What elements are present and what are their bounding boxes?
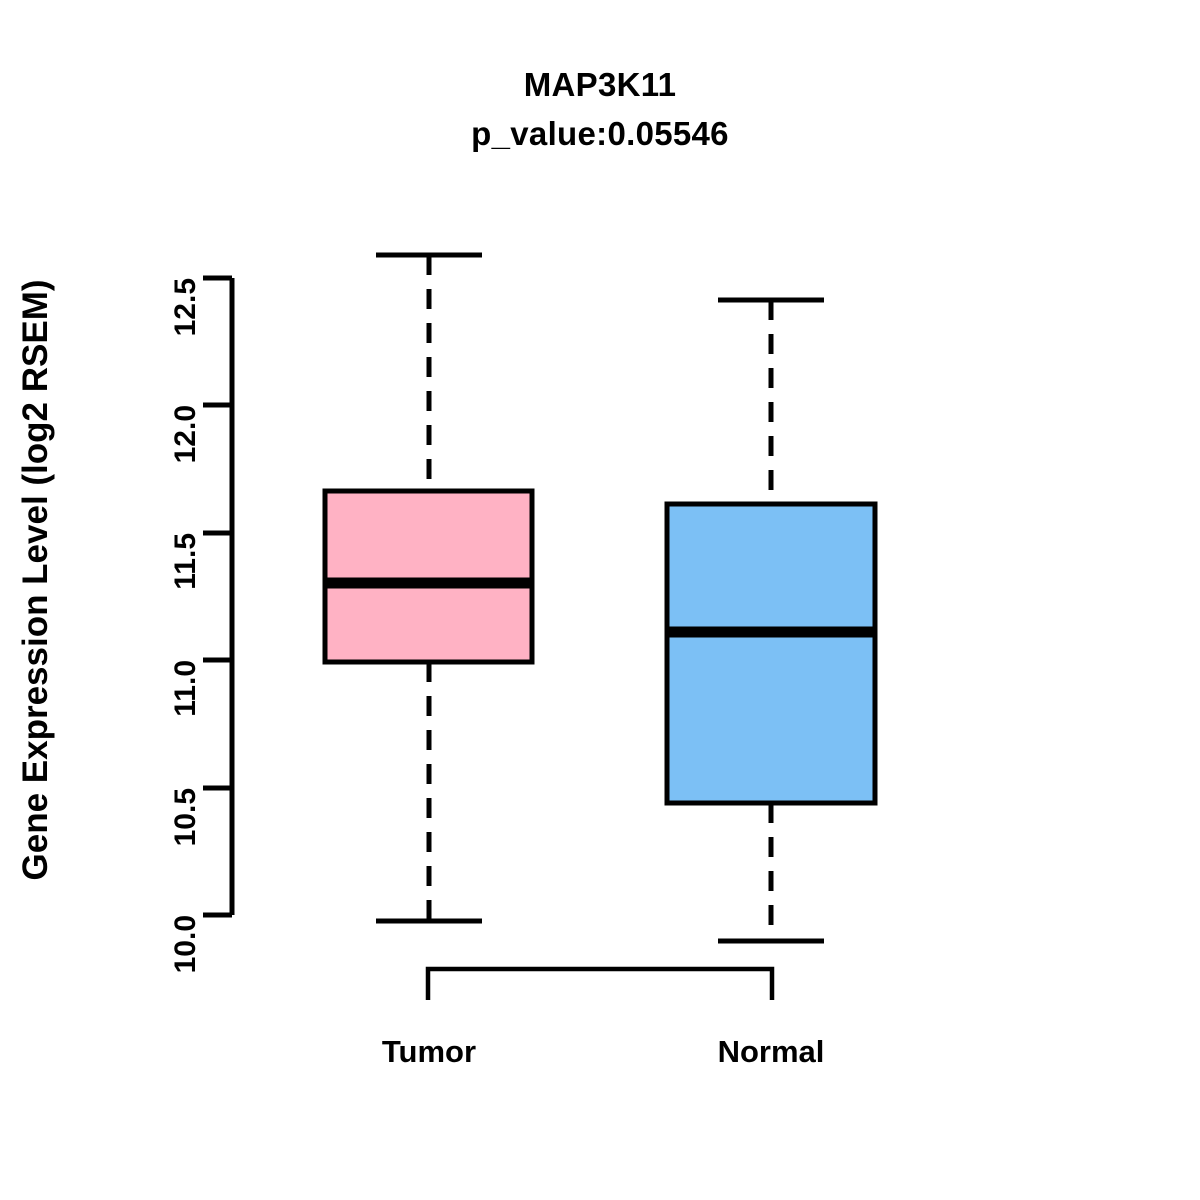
y-tick-label-11.0: 11.0	[169, 660, 203, 730]
tumor-box-body[interactable]	[325, 491, 532, 662]
y-tick-label-11.5: 11.5	[169, 533, 203, 603]
box-tumor[interactable]	[325, 255, 532, 921]
normal-box-body[interactable]	[667, 504, 875, 803]
y-tick-label-10.0: 10.0	[169, 915, 203, 985]
x-label-tumor: Tumor	[329, 1034, 529, 1070]
boxplot-figure: MAP3K11 p_value:0.05546 Gene Expression …	[0, 0, 1200, 1200]
box-normal[interactable]	[667, 300, 875, 941]
x-label-normal: Normal	[671, 1034, 871, 1070]
y-tick-label-12.5: 12.5	[169, 278, 203, 348]
comparison-bracket	[428, 969, 772, 1000]
y-tick-label-10.5: 10.5	[169, 788, 203, 858]
y-tick-label-12.0: 12.0	[169, 405, 203, 475]
